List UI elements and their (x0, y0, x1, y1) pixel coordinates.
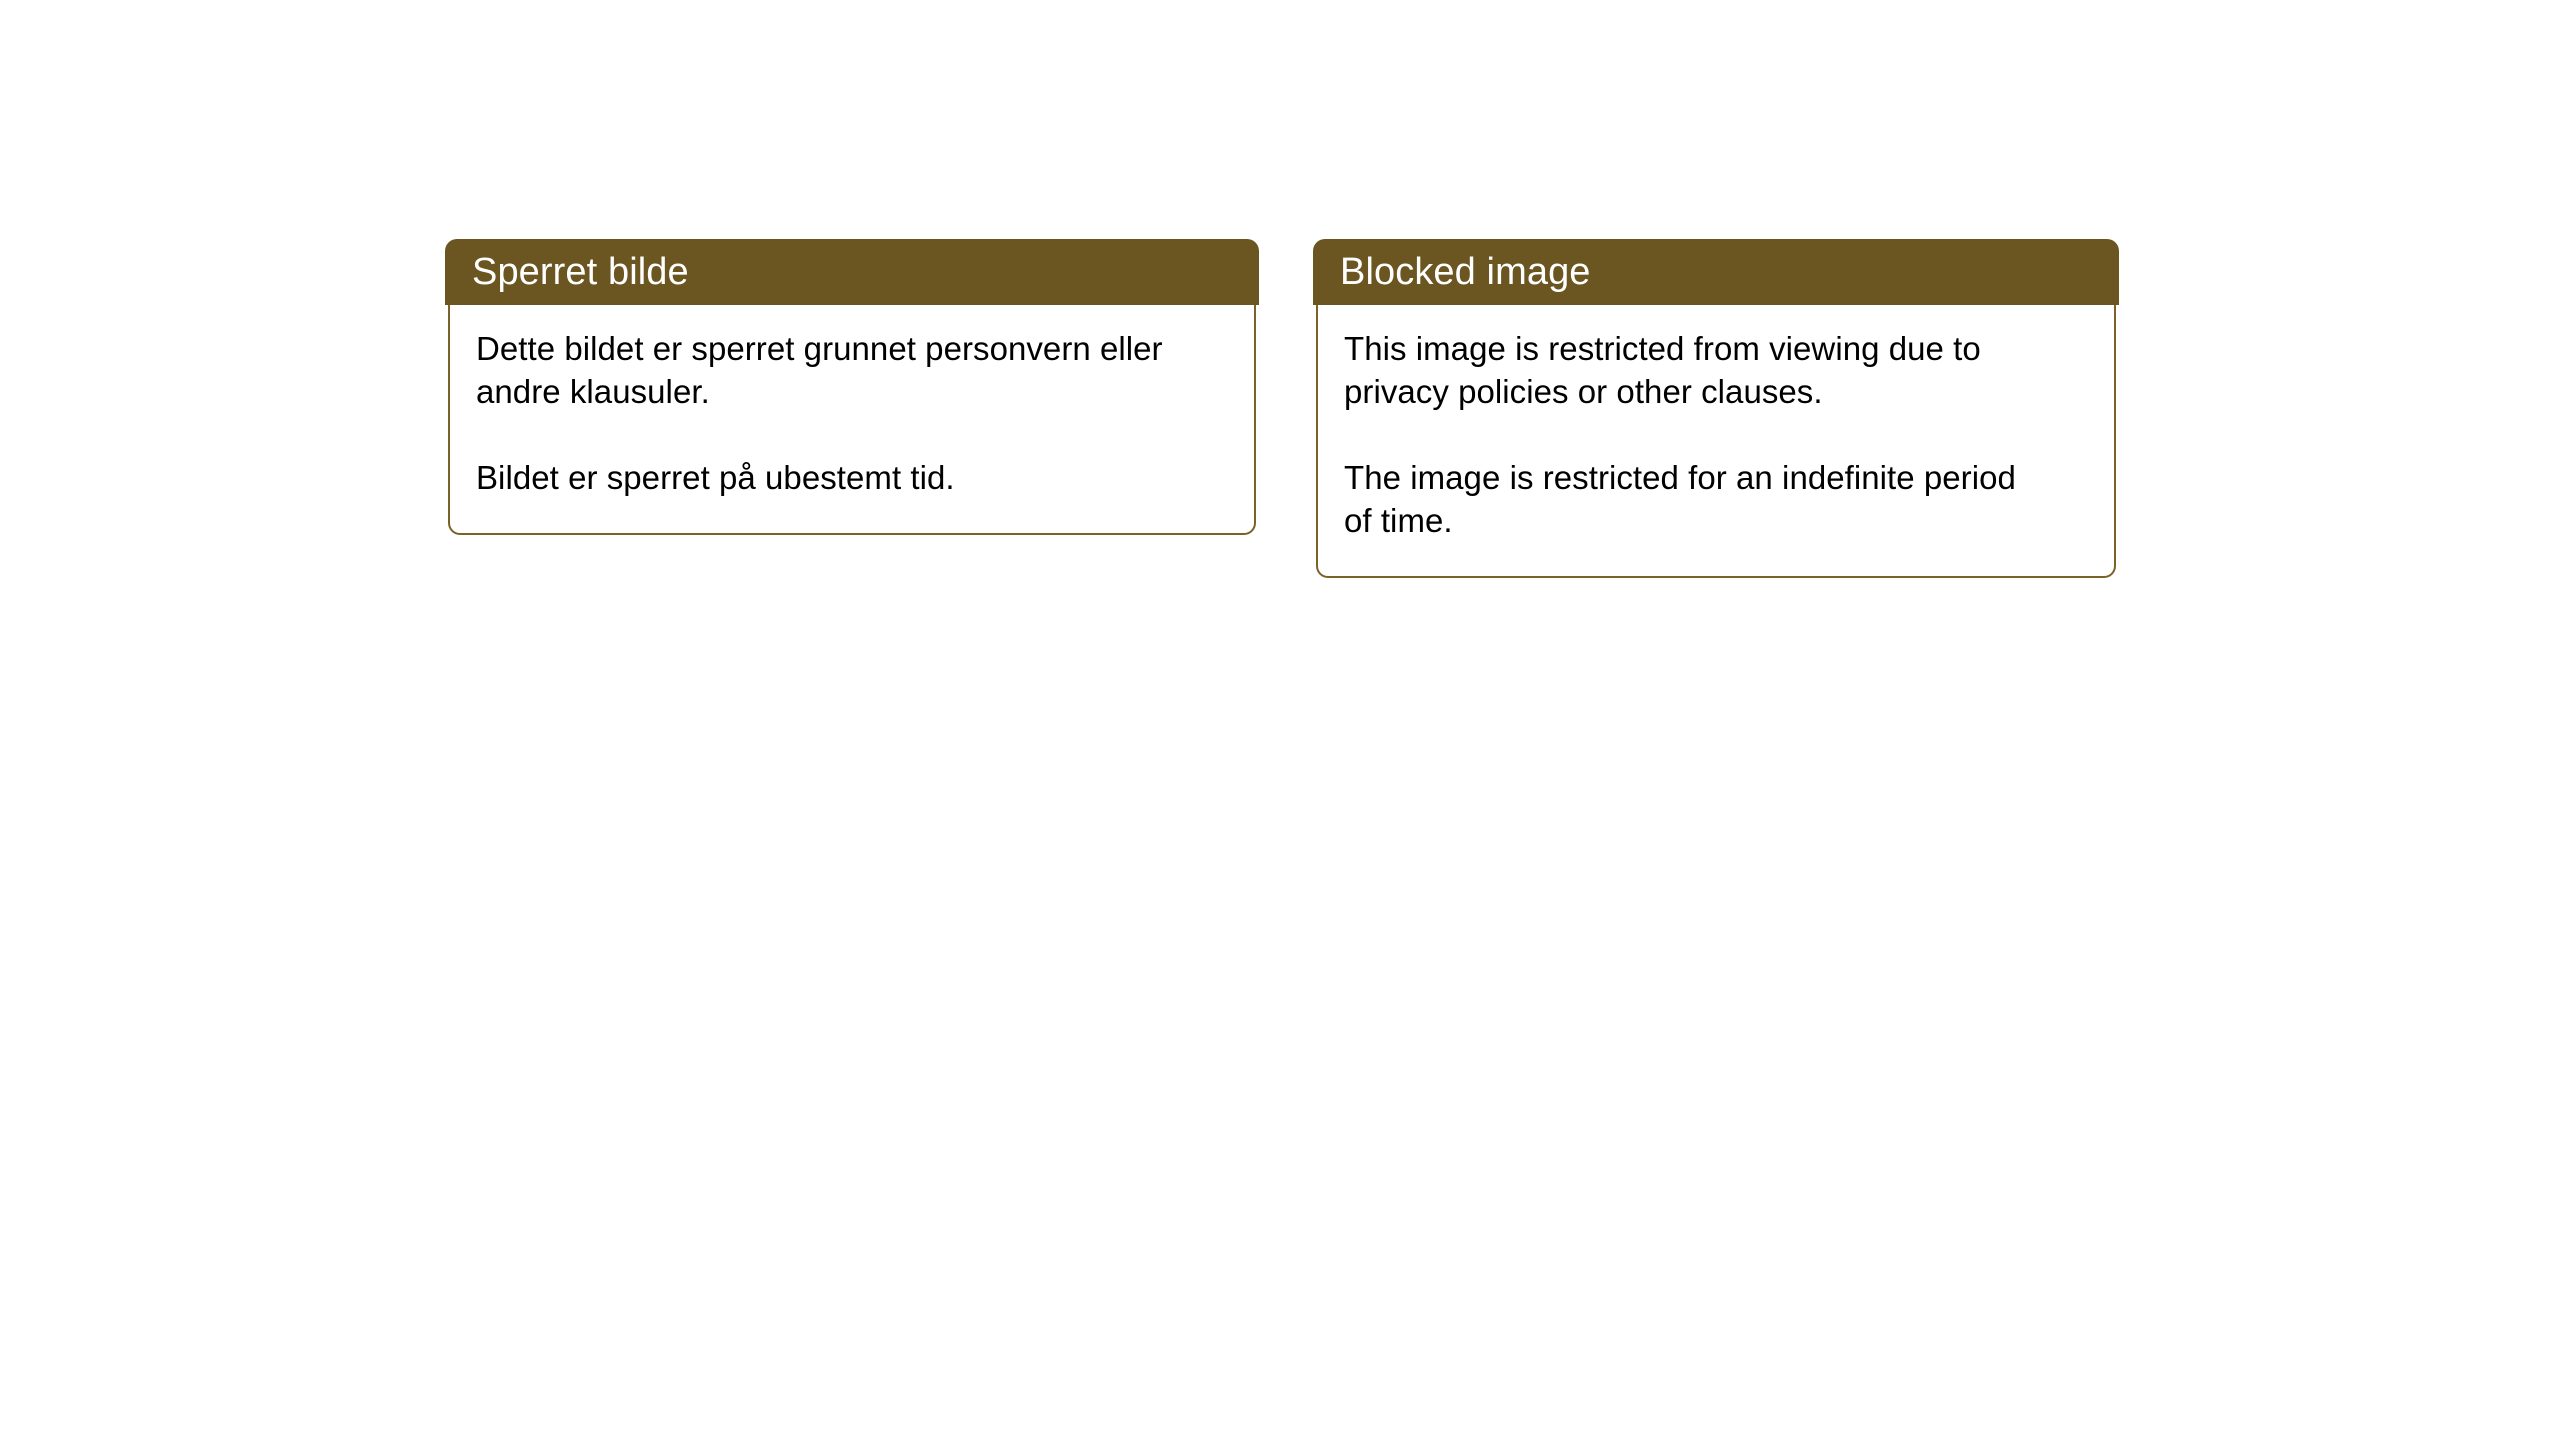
notice-paragraph-reason-english: This image is restricted from viewing du… (1344, 327, 2044, 413)
notice-header-english: Blocked image (1313, 239, 2119, 305)
notice-card-group: Sperret bilde Dette bildet er sperret gr… (448, 239, 2116, 578)
notice-title-english: Blocked image (1340, 253, 1591, 291)
notice-title-norwegian: Sperret bilde (472, 253, 689, 291)
blocked-image-notice-english: Blocked image This image is restricted f… (1316, 239, 2116, 578)
page-root: Sperret bilde Dette bildet er sperret gr… (0, 0, 2560, 1440)
notice-paragraph-reason-norwegian: Dette bildet er sperret grunnet personve… (476, 327, 1186, 413)
notice-body-norwegian: Dette bildet er sperret grunnet personve… (448, 305, 1256, 535)
blocked-image-notice-norwegian: Sperret bilde Dette bildet er sperret gr… (448, 239, 1256, 535)
notice-paragraph-duration-norwegian: Bildet er sperret på ubestemt tid. (476, 456, 1186, 499)
notice-header-norwegian: Sperret bilde (445, 239, 1259, 305)
notice-body-english: This image is restricted from viewing du… (1316, 305, 2116, 578)
notice-paragraph-duration-english: The image is restricted for an indefinit… (1344, 456, 2044, 542)
